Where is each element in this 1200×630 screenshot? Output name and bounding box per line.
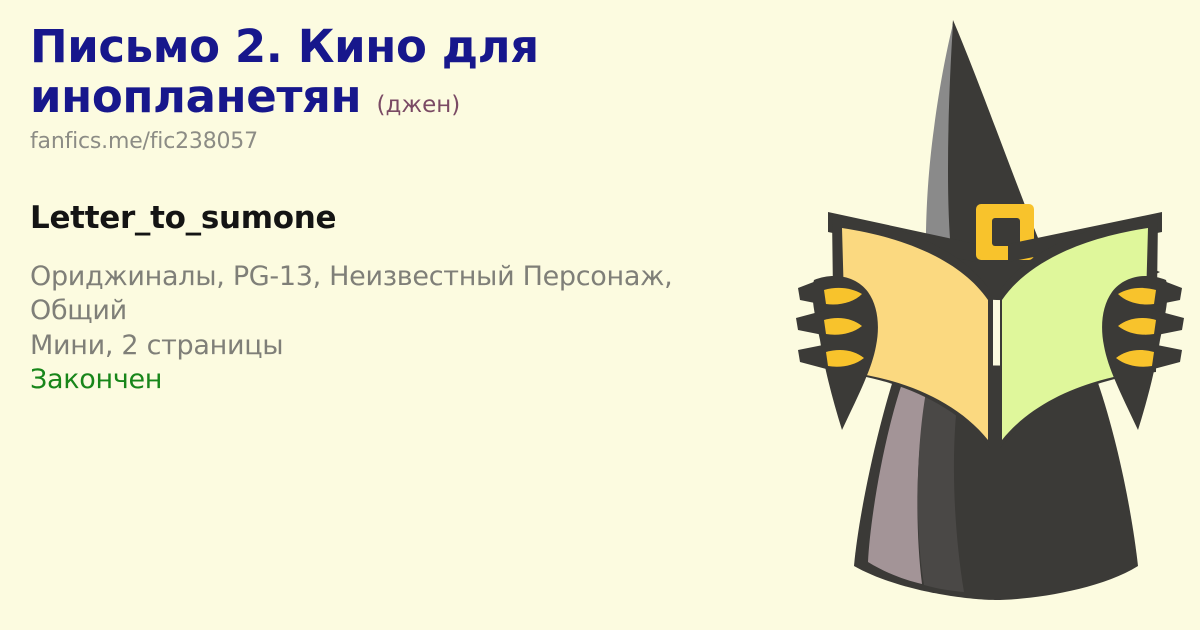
left-hand bbox=[796, 276, 878, 430]
text-column: Письмо 2. Кино для инопланетян (джен) fa… bbox=[30, 22, 790, 398]
fanfic-preview-card: Письмо 2. Кино для инопланетян (джен) fa… bbox=[0, 0, 1200, 630]
source-url: fanfics.me/fic238057 bbox=[30, 129, 790, 154]
right-hand bbox=[1102, 276, 1184, 430]
page-title-text: Письмо 2. Кино для инопланетян bbox=[30, 20, 539, 123]
page-title: Письмо 2. Кино для инопланетян (джен) bbox=[30, 22, 790, 123]
metadata-fandom-rating-characters: Ориджиналы, PG-13, Неизвестный Персонаж,… bbox=[30, 260, 760, 329]
genre-label: (джен) bbox=[377, 92, 461, 118]
witch-reading-book-illustration bbox=[780, 0, 1200, 630]
robe-shape bbox=[854, 365, 1138, 600]
author-name: Letter_to_sumone bbox=[30, 200, 790, 236]
metadata-size-pages: Мини, 2 страницы bbox=[30, 329, 760, 364]
status-badge: Закончен bbox=[30, 363, 760, 398]
metadata-block: Ориджиналы, PG-13, Неизвестный Персонаж,… bbox=[30, 260, 790, 398]
